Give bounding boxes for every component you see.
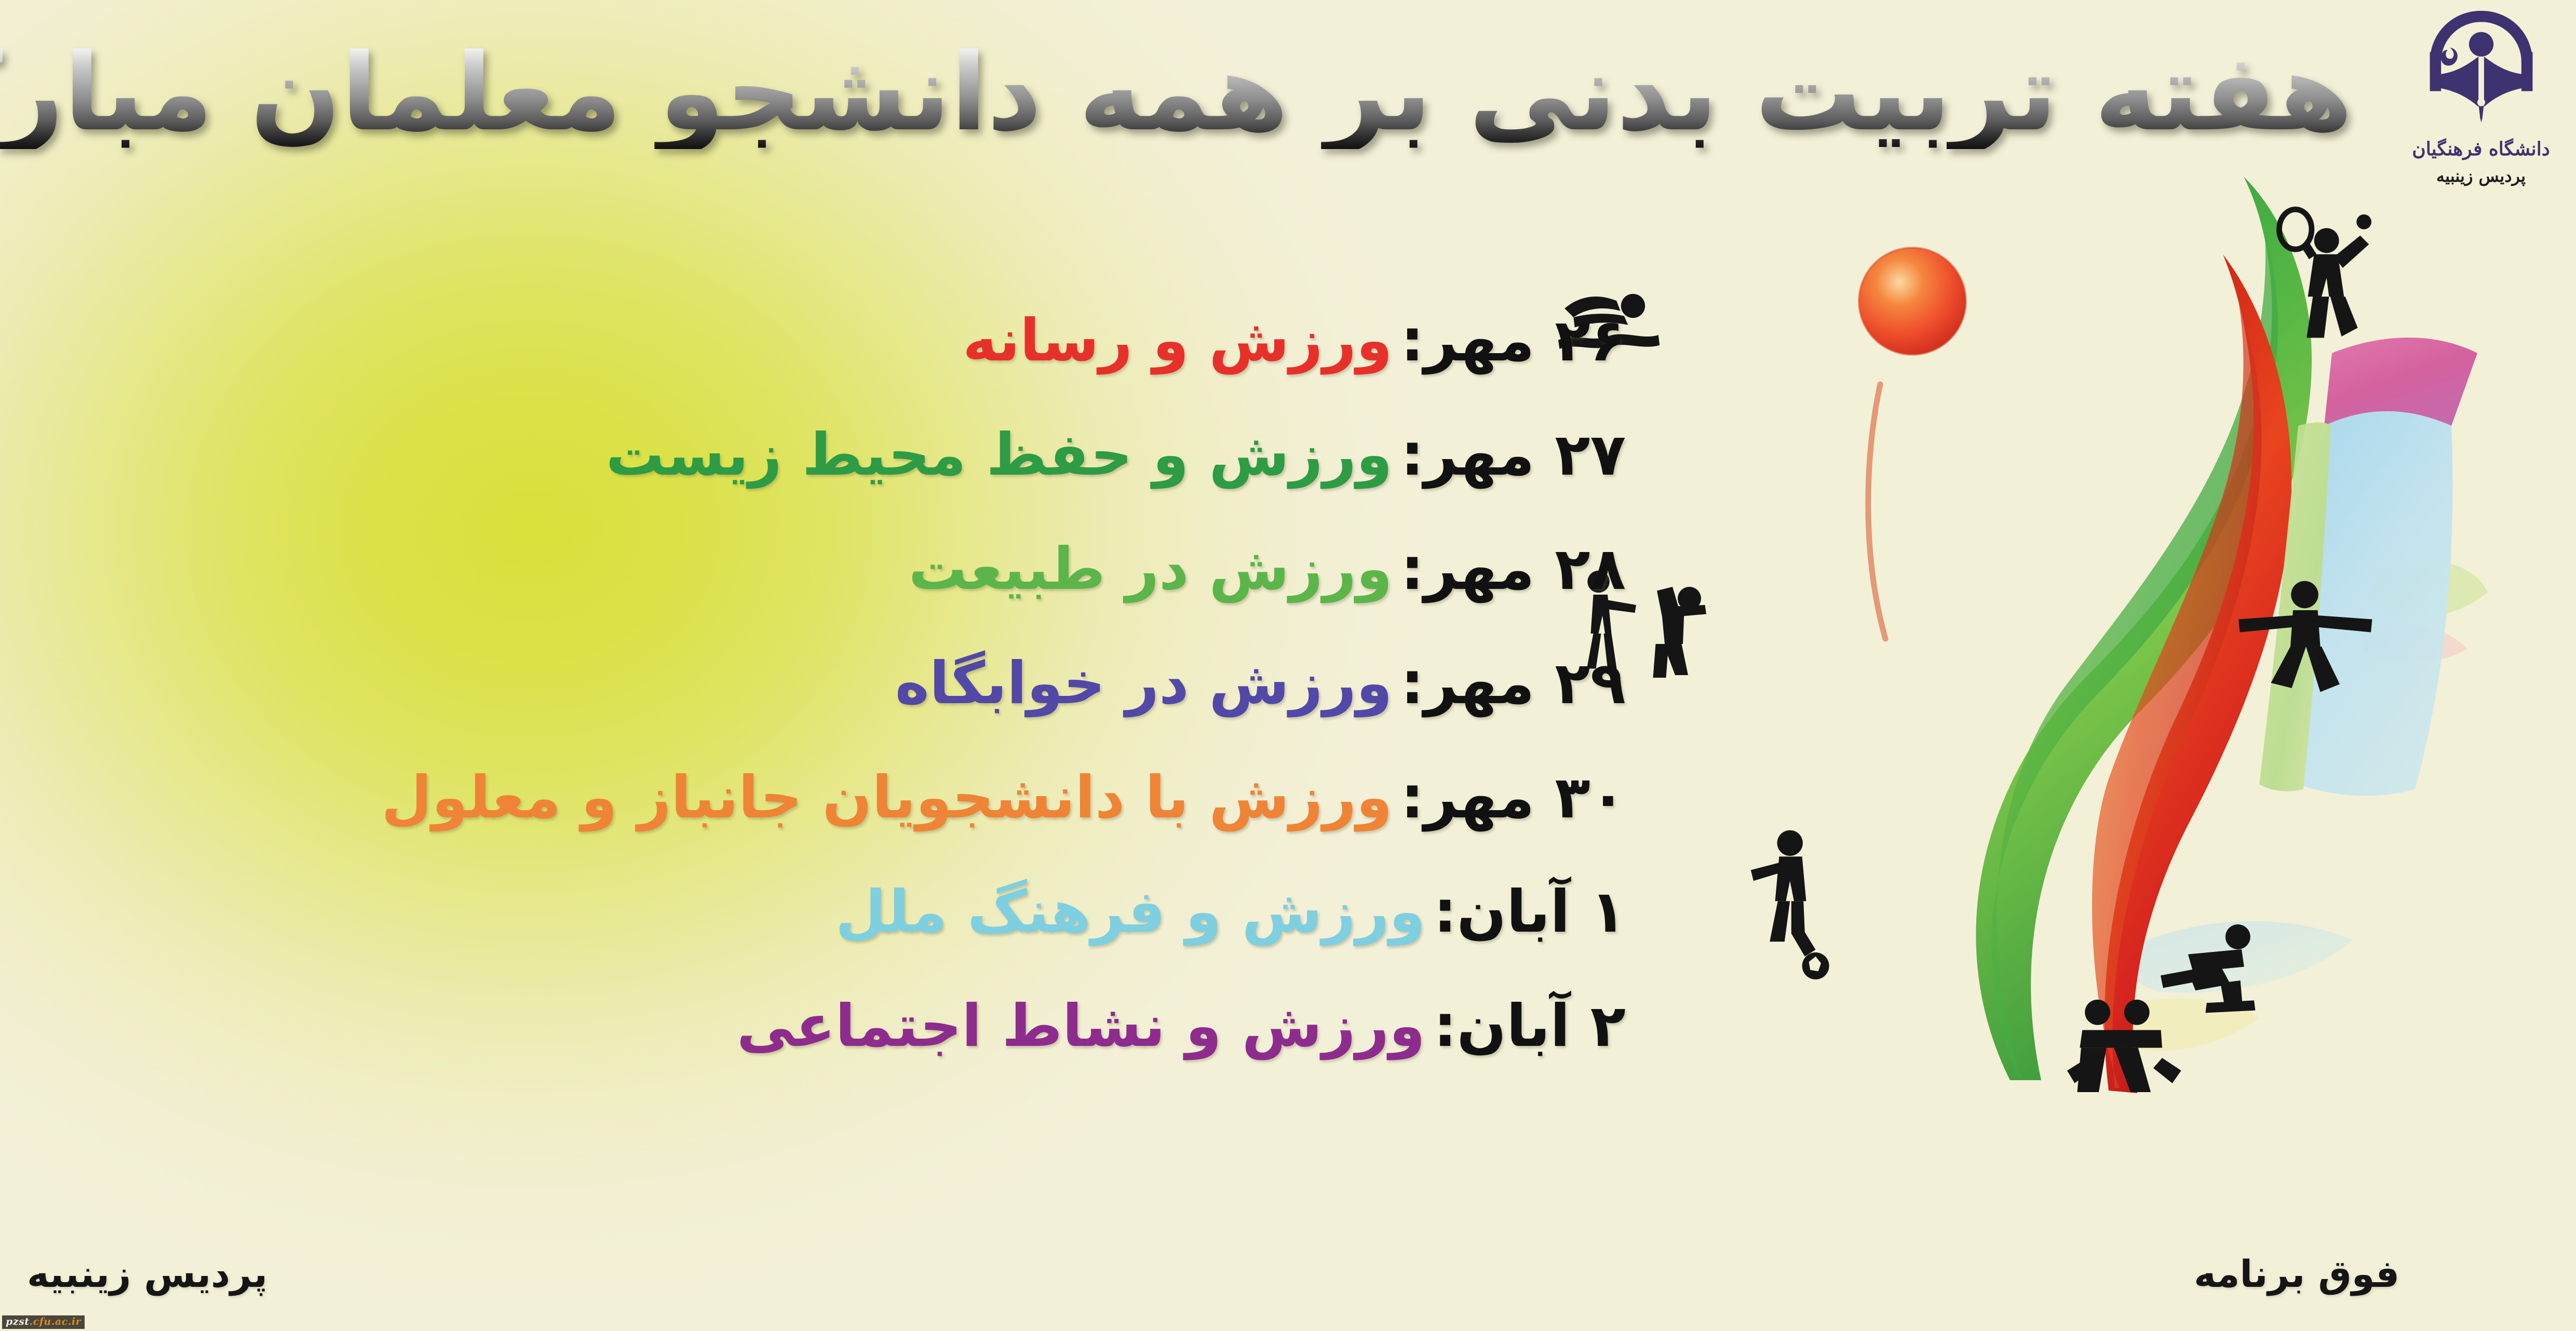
footer-campus-label: پردیس زینبیه — [27, 1252, 267, 1296]
program-row: ۲۸ مهر:ورزش در طبیعت — [899, 540, 1626, 598]
program-row: ۳۰ مهر:ورزش با دانشجویان جانباز و معلول — [899, 769, 1626, 827]
program-topic: ورزش در طبیعت — [909, 535, 1393, 603]
program-row: ۲۹ مهر:ورزش در خوابگاه — [899, 654, 1626, 712]
program-separator: : — [1434, 992, 1457, 1060]
gymnast-icon — [2238, 581, 2372, 692]
campus-name: پردیس زینبیه — [2395, 166, 2567, 186]
program-separator: : — [1401, 764, 1424, 831]
program-separator: : — [1401, 421, 1424, 489]
poster-title: هفته تربیت بدنی بر همه دانشجو معلمان مبا… — [0, 37, 2353, 149]
program-topic: ورزش و فرهنگ ملل — [835, 878, 1425, 946]
watermark-prefix: pzst — [6, 1316, 30, 1327]
green-swoosh-highlight — [1991, 228, 2278, 1078]
program-topic: ورزش و حفظ محیط زیست — [606, 421, 1393, 489]
red-swoosh-shape — [2105, 254, 2291, 1093]
wrestlers-icon — [2067, 1000, 2181, 1092]
ball-icon — [1859, 248, 1966, 355]
green-swoosh-shape — [1976, 177, 2312, 1080]
program-topic: ورزش در خوابگاه — [895, 650, 1393, 717]
program-row: ۲ آبان:ورزش و نشاط اجتماعی — [899, 997, 1626, 1055]
program-date: ۲۸ مهر — [1424, 535, 1626, 603]
program-row: ۱ آبان:ورزش و فرهنگ ملل — [899, 883, 1626, 941]
program-topic: ورزش با دانشجویان جانباز و معلول — [381, 764, 1392, 831]
university-name: دانشگاه فرهنگیان — [2395, 138, 2567, 160]
watermark-suffix: .cfu.ac.ir — [30, 1316, 82, 1327]
program-separator: : — [1401, 307, 1424, 374]
program-row: ۲۷ مهر:ورزش و حفظ محیط زیست — [899, 426, 1626, 484]
watercolor-washes — [2119, 560, 2488, 1051]
program-date: ۲۶ مهر — [1424, 307, 1626, 374]
orange-arc-shape — [1868, 384, 1885, 639]
soccer-player-icon — [1751, 830, 1829, 979]
program-topic: ورزش و نشاط اجتماعی — [737, 992, 1425, 1060]
program-date: ۲۷ مهر — [1424, 421, 1626, 489]
poster-title-wrap: هفته تربیت بدنی بر همه دانشجو معلمان مبا… — [431, 37, 2353, 149]
program-date: ۲۹ مهر — [1424, 650, 1626, 717]
sport-emblem-artwork — [1522, 62, 2508, 1257]
ribbon-stack — [2259, 338, 2477, 796]
university-logo-block: دانشگاه فرهنگیان پردیس زینبیه — [2395, 7, 2567, 186]
site-watermark: pzst.cfu.ac.ir — [2, 1315, 85, 1329]
farhangian-university-logo-icon — [2425, 7, 2537, 137]
program-row: ۲۶ مهر:ورزش و رسانه — [899, 312, 1626, 370]
footer-department-label: فوق برنامه — [2194, 1252, 2399, 1296]
red-swoosh-highlight — [2092, 301, 2261, 1088]
program-separator: : — [1401, 535, 1424, 603]
program-date: ۲ آبان — [1457, 992, 1626, 1060]
program-separator: : — [1401, 650, 1424, 717]
tennis-player-icon — [2279, 209, 2371, 338]
program-separator: : — [1434, 878, 1457, 946]
program-date: ۱ آبان — [1457, 878, 1626, 946]
program-date: ۳۰ مهر — [1424, 764, 1626, 831]
pictogram-group — [1558, 209, 2372, 1092]
sprinter-icon — [2161, 924, 2255, 1013]
poster-canvas: هفته تربیت بدنی بر همه دانشجو معلمان مبا… — [0, 0, 2576, 1331]
program-schedule-list: ۲۶ مهر:ورزش و رسانه ۲۷ مهر:ورزش و حفظ مح… — [899, 312, 1626, 1111]
program-topic: ورزش و رسانه — [963, 307, 1392, 374]
